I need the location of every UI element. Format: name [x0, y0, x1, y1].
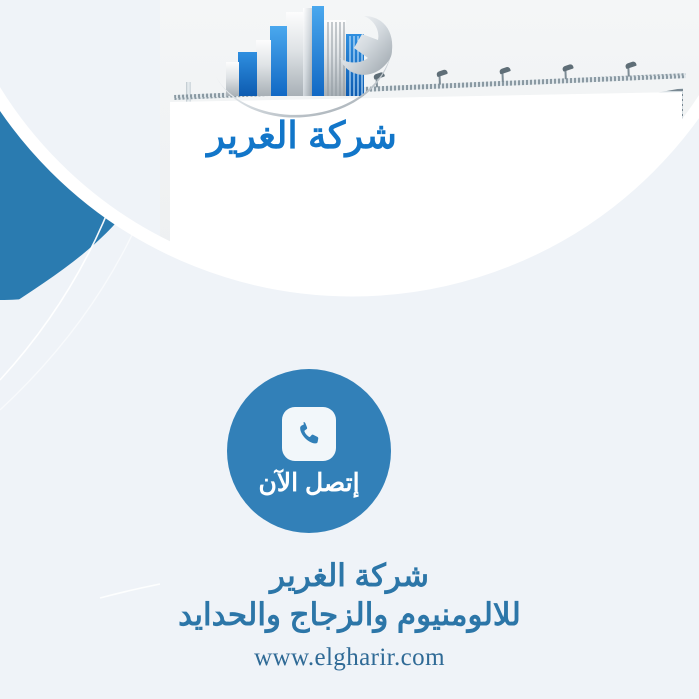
billboard-lamp-icon: [434, 70, 448, 85]
billboard-lamp-icon: [560, 65, 574, 80]
logo-company-name: شركة الغرير: [186, 114, 418, 157]
call-now-label: إتصل الآن: [258, 471, 359, 496]
billboard-support-column: [537, 330, 565, 535]
phone-icon: [282, 407, 336, 461]
footer-company-name: شركة الغرير: [0, 556, 699, 595]
footer-tagline: للالومنيوم والزجاج والحدايد: [0, 595, 699, 634]
company-logo: شركة الغرير: [186, 6, 418, 181]
billboard-lamp-icon: [497, 68, 511, 83]
website-url[interactable]: www.elgharir.com: [0, 644, 699, 672]
buildings-wrench-logo-icon: [186, 6, 418, 118]
call-now-button[interactable]: إتصل الآن: [227, 369, 391, 533]
poster-canvas: شركة الغرير إتصل الآن شركة الغرير للالوم…: [0, 0, 699, 699]
billboard-lamp-icon: [623, 62, 637, 77]
footer-block: شركة الغرير للالومنيوم والزجاج والحدايد …: [0, 556, 699, 672]
